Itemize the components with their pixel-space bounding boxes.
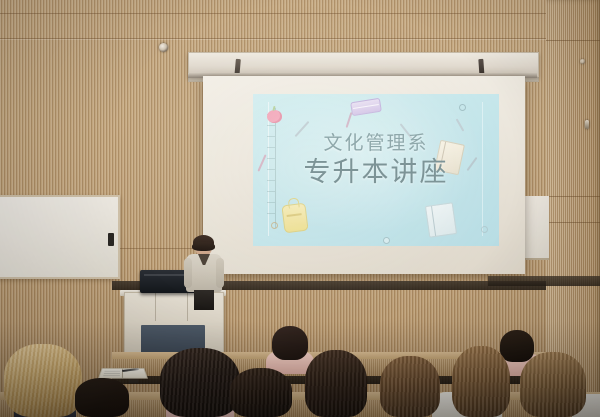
audience-member	[380, 356, 440, 417]
wall-seam	[0, 38, 600, 39]
wall-fixture-icon	[585, 120, 589, 129]
circle-outline-icon	[481, 226, 488, 233]
slide-title-line-2: 专升本讲座	[253, 157, 499, 188]
speaker-legs	[194, 290, 214, 310]
audience-member	[4, 344, 82, 417]
speaker-presenter	[186, 238, 222, 306]
speaker-arm	[216, 258, 224, 288]
audience-member	[75, 378, 129, 417]
audience-member	[230, 368, 292, 417]
lecture-hall-photo: 文化管理系 专升本讲座	[0, 0, 600, 417]
audience-hair	[4, 344, 82, 417]
wall-dark-band	[488, 276, 600, 286]
audience-hair	[160, 348, 240, 417]
audience-member	[500, 330, 534, 362]
circle-outline-icon	[459, 104, 466, 111]
column-seam	[546, 196, 600, 197]
whiteboard-left	[0, 195, 120, 279]
wall-sensor-icon	[159, 43, 168, 52]
column-seam	[546, 222, 600, 223]
slide-title-line-1: 文化管理系	[253, 134, 499, 153]
slide-title-block: 文化管理系 专升本讲座	[253, 134, 499, 188]
audience-member	[452, 346, 510, 417]
audience-member	[520, 352, 586, 417]
audience-hair	[272, 326, 308, 360]
speaker-hair	[193, 235, 214, 250]
audience-member	[305, 350, 367, 417]
column-seam	[546, 40, 600, 41]
apple-icon	[267, 110, 282, 123]
projection-screen: 文化管理系 专升本讲座	[203, 76, 525, 274]
circle-outline-icon	[383, 237, 390, 244]
audience-member	[160, 348, 240, 417]
projected-slide: 文化管理系 专升本讲座	[253, 94, 499, 246]
wall-sensor-icon	[580, 59, 585, 64]
speaker-arm	[184, 258, 192, 288]
marker-holder-icon	[108, 233, 114, 246]
circle-outline-icon	[271, 222, 278, 229]
backpack-icon	[281, 203, 308, 234]
notebook-lines	[103, 371, 120, 376]
podium-seam	[155, 293, 156, 321]
wall-seam	[0, 13, 600, 14]
audience-hair	[500, 330, 534, 362]
notebook-icon	[425, 202, 457, 238]
audience-member	[272, 326, 308, 360]
